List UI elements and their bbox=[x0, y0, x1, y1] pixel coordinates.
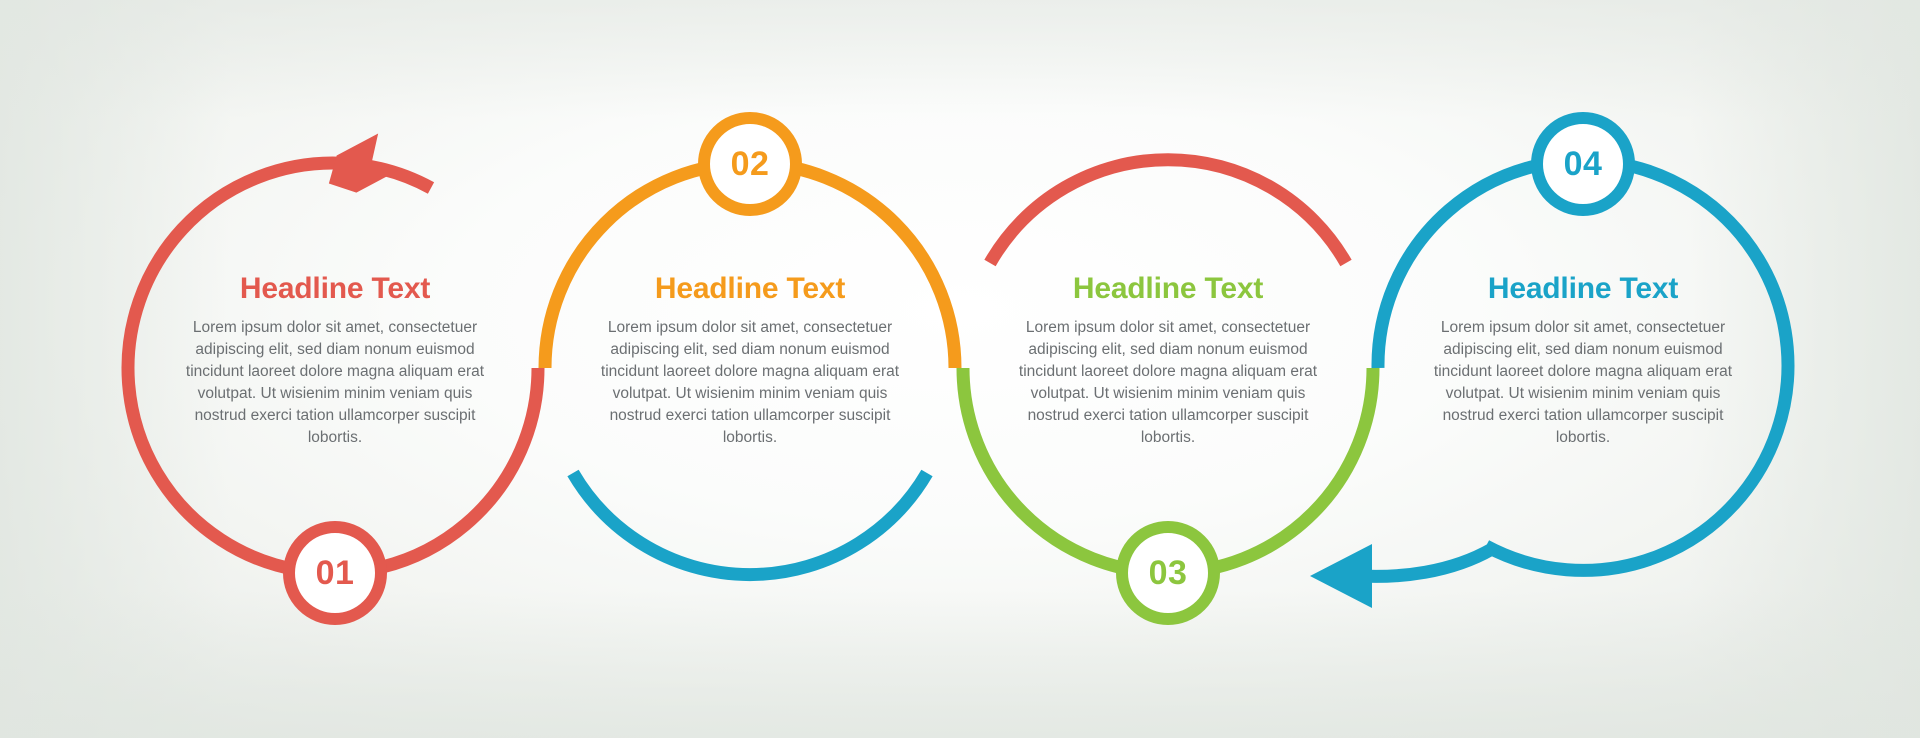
step-badge-04[interactable]: 04 bbox=[1531, 112, 1635, 216]
step1-headline: Headline Text bbox=[170, 272, 500, 305]
step4-headline: Headline Text bbox=[1418, 272, 1748, 305]
step1-body: Lorem ipsum dolor sit amet, consectetuer… bbox=[170, 317, 500, 449]
step2-headline: Headline Text bbox=[585, 272, 915, 305]
step2-blue-bottom-arc bbox=[573, 473, 927, 575]
step3-badge-number: 03 bbox=[1149, 556, 1188, 590]
step-badge-02[interactable]: 02 bbox=[698, 112, 802, 216]
step4-blue-arrow-tail bbox=[1360, 549, 1492, 576]
step-panel-4: Headline Text Lorem ipsum dolor sit amet… bbox=[1418, 272, 1748, 449]
step-badge-01[interactable]: 01 bbox=[283, 521, 387, 625]
step4-badge-number: 04 bbox=[1564, 147, 1603, 181]
step2-body: Lorem ipsum dolor sit amet, consectetuer… bbox=[585, 317, 915, 449]
step-panel-2: Headline Text Lorem ipsum dolor sit amet… bbox=[585, 272, 915, 449]
step4-end-arrow-icon bbox=[1310, 544, 1372, 608]
step3-body: Lorem ipsum dolor sit amet, consectetuer… bbox=[1003, 317, 1333, 449]
step2-badge-number: 02 bbox=[731, 147, 770, 181]
infographic-canvas: Headline Text Lorem ipsum dolor sit amet… bbox=[0, 0, 1920, 738]
step4-body: Lorem ipsum dolor sit amet, consectetuer… bbox=[1418, 317, 1748, 449]
step-panel-3: Headline Text Lorem ipsum dolor sit amet… bbox=[1003, 272, 1333, 449]
step3-red-top-arc bbox=[990, 160, 1346, 263]
step-panel-1: Headline Text Lorem ipsum dolor sit amet… bbox=[170, 272, 500, 449]
step-badge-03[interactable]: 03 bbox=[1116, 521, 1220, 625]
step3-headline: Headline Text bbox=[1003, 272, 1333, 305]
step1-badge-number: 01 bbox=[316, 556, 355, 590]
